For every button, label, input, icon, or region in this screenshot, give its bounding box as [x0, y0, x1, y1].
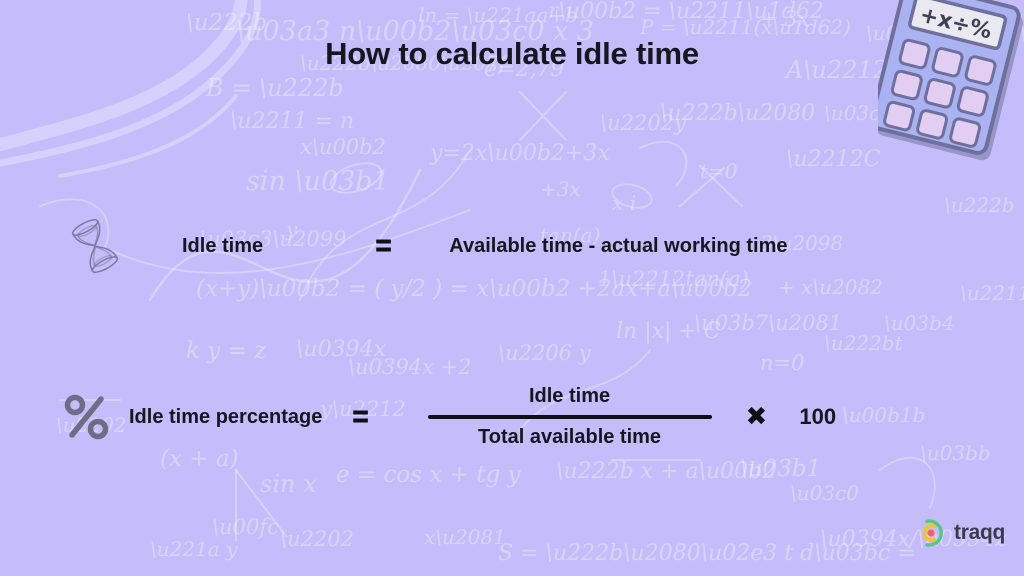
equals-sign-row-1: =: [374, 229, 394, 264]
svg-text:\u222b: \u222b: [944, 193, 1015, 217]
svg-text:\u221a y: \u221a y: [150, 537, 238, 561]
fraction-bar: [428, 415, 712, 419]
hourglass-icon: [60, 216, 130, 276]
svg-text:+ 3x: + 3x: [760, 7, 810, 31]
formula-term-idle-time-percentage: Idle time percentage: [129, 406, 322, 429]
svg-text:\u222b: \u222b: [186, 10, 267, 36]
formula-row-idle-time: Idle time = Available time - actual work…: [60, 222, 960, 270]
svg-text:B = \u222b: B = \u222b: [205, 74, 344, 102]
calculator-illustration: +x÷%: [878, 0, 1024, 165]
svg-text:\u2206 y: \u2206 y: [498, 341, 592, 365]
svg-text:+ x\u2082: + x\u2082: [778, 275, 883, 299]
svg-text:e = cos x + tg y: e = cos x + tg y: [336, 462, 521, 488]
svg-text:\u222b\u2080: \u222b\u2080: [660, 101, 815, 126]
svg-text:y=2x\u00b2+3x: y=2x\u00b2+3x: [429, 141, 610, 166]
svg-text:\u03c0: \u03c0: [790, 481, 859, 505]
traqq-mark-icon: [916, 518, 946, 548]
traqq-logo: traqq: [916, 518, 1005, 548]
svg-text:1\u2212tan(a): 1\u2212tan(a): [598, 267, 749, 291]
svg-text:\u00fc: \u00fc: [212, 515, 279, 539]
svg-text:k y = z: k y = z: [186, 338, 267, 364]
percent-icon: [55, 391, 117, 443]
svg-text:ln |x| + C: ln |x| + C: [616, 319, 721, 344]
svg-text:sin \u03b1: sin \u03b1: [246, 166, 390, 197]
fraction-numerator: Idle time: [529, 385, 610, 408]
formula-multiplier-100: 100: [799, 404, 836, 430]
multiply-icon: ✖: [746, 404, 768, 430]
traqq-wordmark: traqq: [954, 521, 1005, 545]
svg-text:\u2212C: \u2212C: [786, 147, 881, 172]
page-title: How to calculate idle time: [0, 36, 1024, 72]
svg-text:\u2202y: \u2202y: [600, 111, 687, 135]
svg-text:\u222bt: \u222bt: [824, 331, 904, 355]
formula-result-idle-time: Available time - actual working time: [449, 235, 787, 258]
svg-text:\u03b7\u2081: \u03b7\u2081: [694, 311, 842, 335]
svg-text:+3x: +3x: [540, 177, 581, 201]
svg-text:x\u00b2: x\u00b2: [300, 135, 386, 159]
svg-text:x\u2081: x\u2081: [424, 525, 506, 549]
infographic-canvas: \u222b \u03a3 n\u00b2\u03c0 x 3 ln = \u2…: [0, 0, 1024, 576]
svg-text:\u222b x + a\u00b2: \u222b x + a\u00b2: [556, 459, 776, 484]
svg-text:(x+y)\u00b2 = ( y/2 ) = x\u00b: (x+y)\u00b2 = ( y/2 ) = x\u00b2 +2ax+a\u…: [196, 276, 752, 302]
svg-text:x i: x i: [612, 191, 636, 215]
svg-text:t=0: t=0: [700, 159, 738, 183]
svg-text:\u03b4: \u03b4: [884, 311, 955, 335]
fraction-idle-over-total: Idle time Total available time: [428, 385, 712, 449]
svg-text:\u0394x: \u0394x: [296, 337, 387, 362]
equals-sign-row-2: =: [351, 400, 371, 435]
formula-row-idle-time-percentage: Idle time percentage = Idle time Total a…: [55, 372, 975, 462]
svg-text:\u2202: \u2202: [280, 527, 354, 551]
formula-term-idle-time: Idle time: [182, 235, 263, 258]
svg-text:ln = \u221aa+b: ln = \u221aa+b: [418, 3, 578, 27]
fraction-denominator: Total available time: [478, 426, 661, 449]
svg-text:sin x: sin x: [260, 470, 317, 498]
svg-text:\u2211 = n: \u2211 = n: [230, 109, 354, 134]
svg-text:S = \u222b\u2080\u02e3 t d\u03: S = \u222b\u2080\u02e3 t d\u03bc =: [498, 541, 916, 566]
svg-text:r\u00b2 = \u2211\u1d62: r\u00b2 = \u2211\u1d62: [548, 0, 824, 24]
svg-text:\u2211: \u2211: [960, 281, 1024, 305]
chalk-scribble-background: \u222b \u03a3 n\u00b2\u03c0 x 3 ln = \u2…: [0, 0, 1024, 576]
